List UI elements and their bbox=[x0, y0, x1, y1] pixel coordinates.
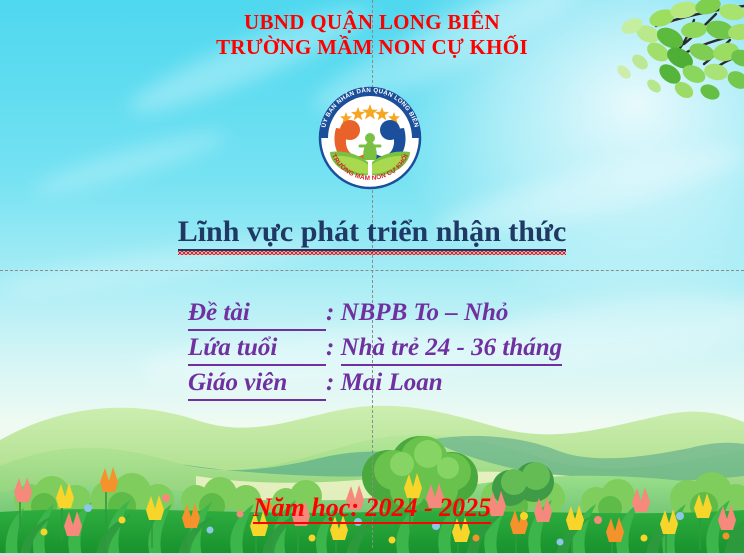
info-row: Đề tài: NBPB To – Nhỏ bbox=[188, 296, 562, 331]
header-line-1: UBND QUẬN LONG BIÊN bbox=[0, 10, 744, 35]
info-separator: : bbox=[326, 369, 334, 396]
info-row: Lứa tuổi: Nhà trẻ 24 - 36 tháng bbox=[188, 331, 562, 366]
slide-canvas: UBND QUẬN LONG BIÊN TRƯỜNG MẦM NON CỰ KH… bbox=[0, 0, 744, 556]
school-logo: ỦY BAN NHÂN DÂN QUẬN LONG BIÊN bbox=[302, 76, 438, 194]
page-title: Lĩnh vực phát triển nhận thức bbox=[0, 213, 744, 251]
page-title-text: Lĩnh vực phát triển nhận thức bbox=[178, 215, 567, 248]
info-value: NBPB To – Nhỏ bbox=[341, 296, 509, 329]
info-separator: : bbox=[326, 334, 334, 361]
header-line-2: TRƯỜNG MẦM NON CỰ KHỐI bbox=[0, 35, 744, 60]
info-label: Lứa tuổi bbox=[188, 331, 326, 366]
info-row: Giáo viên: Mai Loan bbox=[188, 366, 562, 401]
info-separator: : bbox=[326, 299, 334, 326]
school-year-footer: Năm học: 2024 - 2025 bbox=[0, 492, 744, 524]
info-value: Mai Loan bbox=[341, 366, 443, 399]
school-year-text: Năm học: 2024 - 2025 bbox=[253, 493, 491, 524]
info-value: Nhà trẻ 24 - 36 tháng bbox=[341, 331, 563, 366]
spellcheck-underline bbox=[178, 251, 567, 255]
header-block: UBND QUẬN LONG BIÊN TRƯỜNG MẦM NON CỰ KH… bbox=[0, 10, 744, 60]
info-label: Đề tài bbox=[188, 296, 326, 331]
info-label: Giáo viên bbox=[188, 366, 326, 401]
info-block: Đề tài: NBPB To – Nhỏ Lứa tuổi: Nhà trẻ … bbox=[188, 296, 562, 401]
cloud-wisp bbox=[30, 123, 229, 203]
